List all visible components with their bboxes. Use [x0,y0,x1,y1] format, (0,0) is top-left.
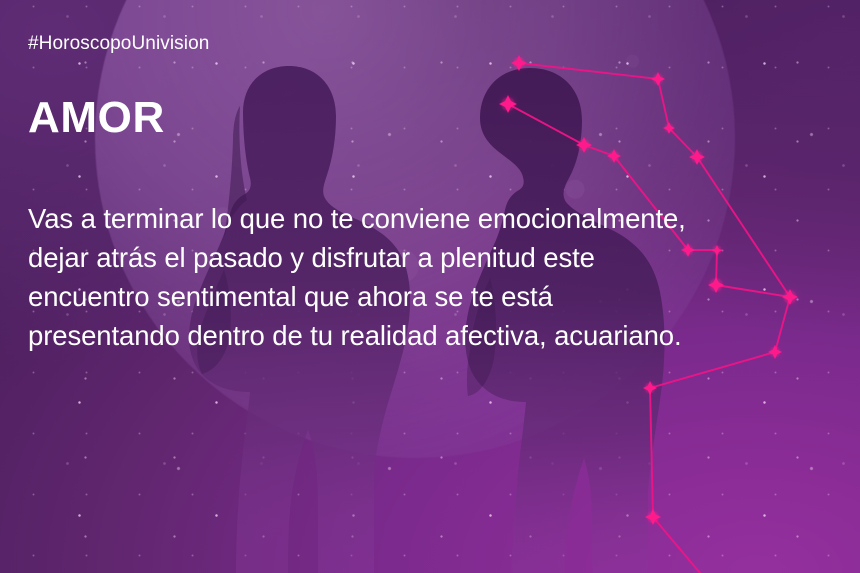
body-line: Vas a terminar lo que no te conviene emo… [28,199,838,238]
body-line: presentando dentro de tu realidad afecti… [28,316,838,355]
hashtag-label: #HoroscopoUnivision [28,33,209,55]
body-line: dejar atrás el pasado y disfrutar a plen… [28,238,838,277]
page-title: AMOR [28,94,165,142]
text-content: #HoroscopoUnivision AMOR Vas a terminar … [0,0,860,573]
horoscope-card: #HoroscopoUnivision AMOR Vas a terminar … [0,0,860,573]
horoscope-body-text: Vas a terminar lo que no te conviene emo… [28,199,838,355]
body-line: encuentro sentimental que ahora se te es… [28,277,838,316]
